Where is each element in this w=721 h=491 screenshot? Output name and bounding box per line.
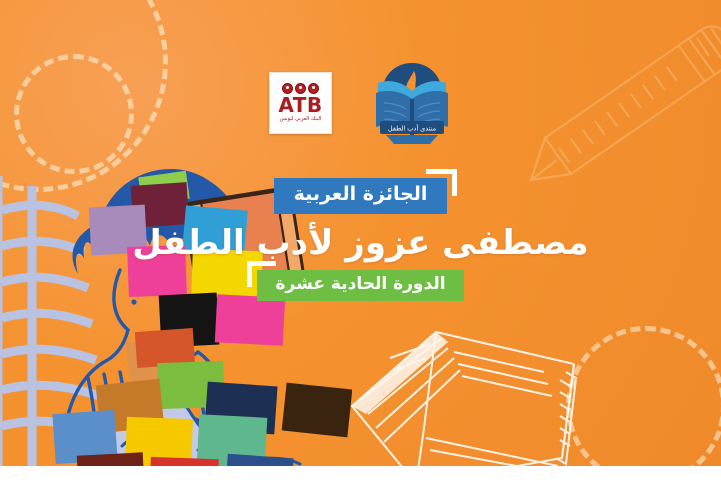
edition-badge-label: الدورة الحادية عشرة [257, 270, 463, 302]
atb-subtitle: البنك العربي لتونس [280, 116, 322, 123]
edition-badge-row: الدورة الحادية عشرة [0, 270, 721, 302]
atb-bank-logo: ATB البنك العربي لتونس [269, 72, 332, 134]
award-badge-row: الجائزة العربية [0, 178, 721, 214]
award-badge-wrap: الجائزة العربية [274, 178, 448, 214]
award-badge-label: الجائزة العربية [274, 178, 448, 214]
title-block: الجائزة العربية مصطفى عزوز لأدب الطفل ال… [0, 178, 721, 301]
open-book-shield-icon: منتدى أدب الطفل [372, 61, 452, 146]
atb-wordmark: ATB [278, 95, 322, 115]
svg-text:منتدى أدب الطفل: منتدى أدب الطفل [388, 123, 436, 132]
edition-badge-wrap: الدورة الحادية عشرة [257, 270, 463, 302]
award-banner: ATB البنك العربي لتونس [0, 0, 721, 491]
forum-logo: منتدى أدب الطفل [372, 61, 452, 146]
logo-row: ATB البنك العربي لتونس [0, 58, 721, 148]
page-title: مصطفى عزوز لأدب الطفل [0, 223, 721, 264]
bottom-white-strip [0, 466, 721, 491]
